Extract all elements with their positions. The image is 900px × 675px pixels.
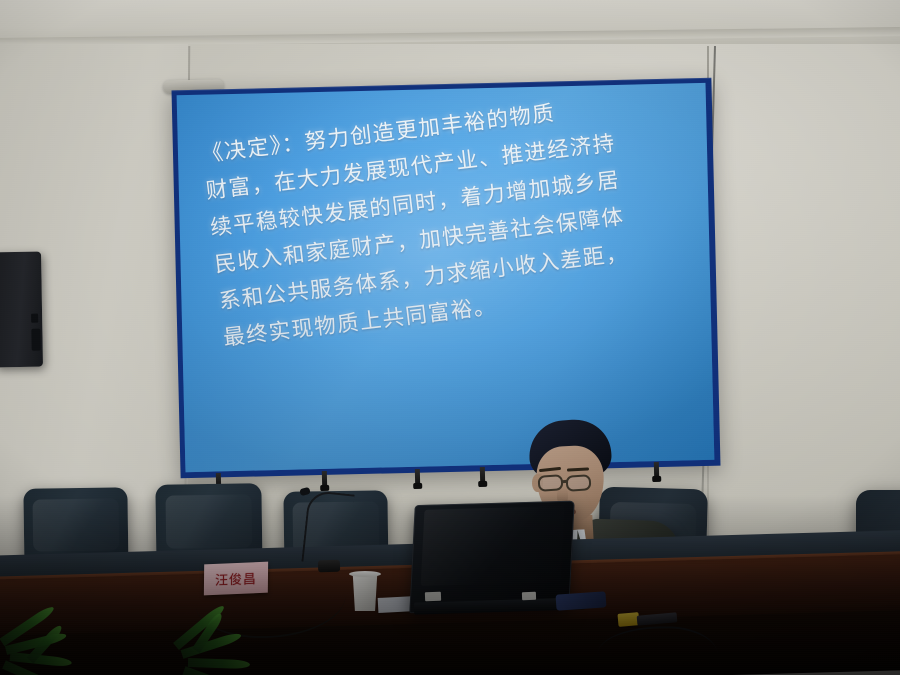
projection-screen: 《决定》：努力创造更加丰裕的物质 财富，在大力发展现代产业、推进经济持 续平稳较… [172,78,721,479]
screen-hook-3 [415,469,420,485]
slide-text-block: 《决定》：努力创造更加丰裕的物质 财富，在大力发展现代产业、推进经济持 续平稳较… [200,83,693,357]
nameplate-text: 汪俊昌 [215,568,257,589]
laptop-port-left [425,592,441,602]
paper-cup [351,573,379,611]
laptop-port-right [522,592,536,600]
speaker-bracket-top [31,314,38,323]
nameplate: 汪俊昌 [204,562,268,596]
eyeglasses-bridge [562,480,568,483]
screen-hook-2 [322,471,327,487]
screen-hook-4 [480,467,485,483]
conference-room-scene: 《决定》：努力创造更加丰裕的物质 财富，在大力发展现代产业、推进经济持 续平稳较… [0,0,900,675]
wall-speaker [0,252,43,368]
screen-frame: 《决定》：努力创造更加丰裕的物质 财富，在大力发展现代产业、推进经济持 续平稳较… [172,78,721,479]
screen-surface: 《决定》：努力创造更加丰裕的物质 财富，在大力发展现代产业、推进经济持 续平稳较… [177,83,715,472]
eyeglasses-lens-right [565,474,591,492]
speaker-bracket [31,329,40,351]
microphone-gooseneck [301,490,354,566]
paper-cup-rim [349,571,381,577]
